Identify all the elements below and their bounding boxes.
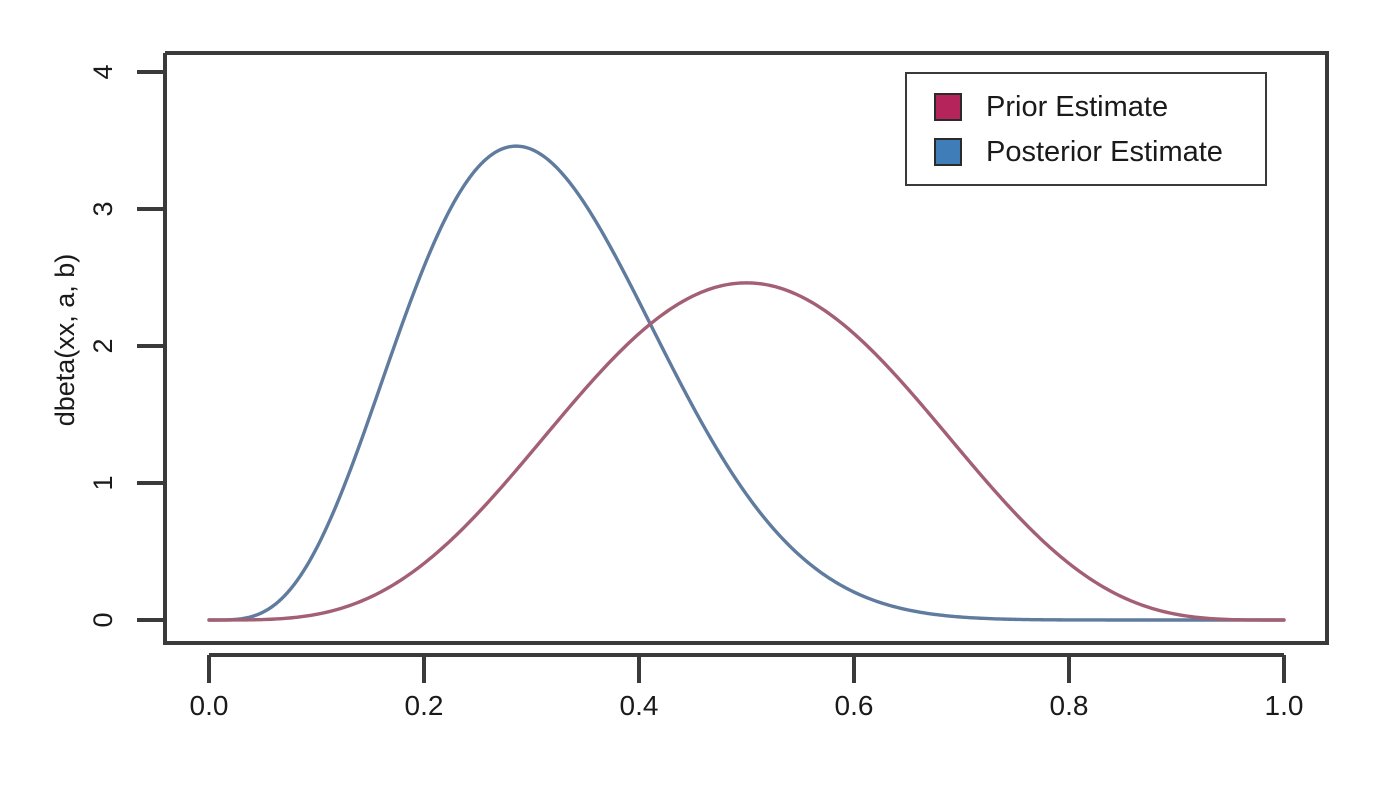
x-tick-label-1: 0.2 [379,688,469,724]
x-tick-label-4: 0.8 [1024,688,1114,724]
legend-label-posterior: Posterior Estimate [986,136,1223,168]
chart-figure: dbeta(xx, a, b) 0 1 2 3 4 0.0 0.2 0.4 0.… [0,0,1397,785]
y-tick-label-1: 1 [86,460,120,506]
y-tick-label-0: 0 [86,597,120,643]
y-tick-label-2: 2 [86,323,120,369]
y-axis-title: dbeta(xx, a, b) [48,20,82,660]
prior-curve [209,283,1284,620]
legend-swatch-posterior-icon [934,138,962,166]
posterior-curve [209,146,1284,620]
y-tick-label-4: 4 [86,49,120,95]
legend-label-prior: Prior Estimate [986,91,1168,123]
legend-item-prior: Prior Estimate [907,84,1265,129]
x-tick-label-3: 0.6 [809,688,899,724]
y-tick-label-3: 3 [86,186,120,232]
x-tick-label-0: 0.0 [164,688,254,724]
chart-legend: Prior Estimate Posterior Estimate [905,72,1267,186]
legend-swatch-prior-icon [934,93,962,121]
legend-item-posterior: Posterior Estimate [907,129,1265,174]
y-axis-ticks [137,72,165,620]
x-axis-ticks [209,655,1284,683]
x-tick-label-2: 0.4 [594,688,684,724]
x-tick-label-5: 1.0 [1239,688,1329,724]
